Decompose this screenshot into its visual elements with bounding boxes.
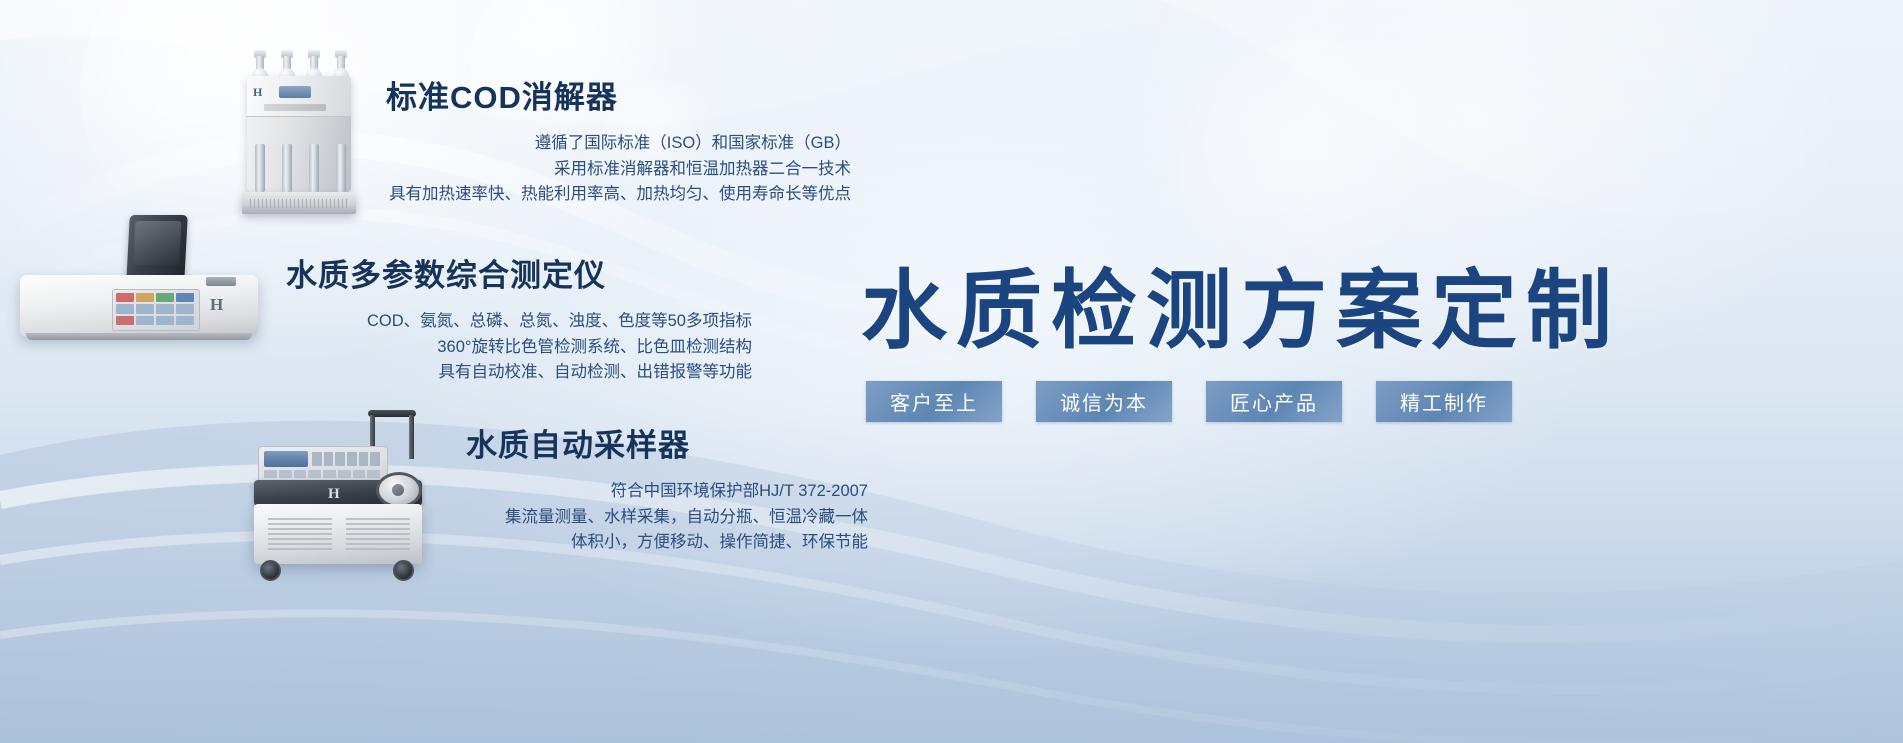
slogan-badge-craftsmanship[interactable]: 匠心产品 <box>1206 381 1342 422</box>
product-description-line: 采用标准消解器和恒温加热器二合一技术 <box>386 157 851 183</box>
page-title: 水质检测方案定制 <box>861 240 1871 365</box>
product-description-line: 集流量测量、水样采集，自动分瓶、恒温冷藏一体 <box>466 505 868 531</box>
lower-tube-4 <box>336 144 346 192</box>
product-title-water-auto-sampler: 水质自动采样器 <box>466 420 868 465</box>
brand-logo-icon: H <box>210 295 223 315</box>
digester-display <box>279 86 311 98</box>
product-description-line: 具有自动校准、自动检测、出错报警等功能 <box>286 360 752 386</box>
slogan-badge-customer-first[interactable]: 客户至上 <box>866 381 1002 422</box>
product-description-line: 符合中国环境保护部HJ/T 372-2007 <box>466 479 868 505</box>
product-description-line: COD、氨氮、总磷、总氮、浊度、色度等50多项指标 <box>286 309 752 335</box>
sampler-handle-post-right <box>409 415 414 459</box>
slogan-badge-row: 客户至上 诚信为本 匠心产品 精工制作 <box>866 381 1512 422</box>
product-description-line: 遵循了国际标准（ISO）和国家标准（GB） <box>386 131 851 157</box>
product-block-multiparameter-analyzer: 水质多参数综合测定仪 COD、氨氮、总磷、总氮、浊度、色度等50多项指标 360… <box>286 250 752 386</box>
product-block-water-auto-sampler: 水质自动采样器 符合中国环境保护部HJ/T 372-2007 集流量测量、水样采… <box>466 420 868 556</box>
multiparameter-analyzer-photo: H <box>20 215 265 350</box>
slogan-badge-fine-manufacturing[interactable]: 精工制作 <box>1376 381 1512 422</box>
slogan-badge-integrity[interactable]: 诚信为本 <box>1036 381 1172 422</box>
lower-tube-1 <box>255 144 265 192</box>
lower-tube-3 <box>309 144 319 192</box>
product-title-multiparameter-analyzer: 水质多参数综合测定仪 <box>286 250 752 295</box>
product-description-water-auto-sampler: 符合中国环境保护部HJ/T 372-2007 集流量测量、水样采集，自动分瓶、恒… <box>466 479 868 556</box>
analyzer-keypad <box>116 293 194 325</box>
sampler-vent-right <box>346 518 410 552</box>
digester-vent <box>250 199 348 208</box>
sampler-wheel-right <box>393 560 414 581</box>
sampler-peristaltic-pump <box>376 472 422 508</box>
brand-logo-icon: H <box>328 486 340 503</box>
product-description-line: 360°旋转比色管检测系统、比色皿检测结构 <box>286 335 752 361</box>
sampler-wheel-left <box>260 560 281 581</box>
water-auto-sampler-photo: H <box>250 410 435 585</box>
product-description-line: 具有加热速率快、热能利用率高、加热均匀、使用寿命长等优点 <box>386 182 851 208</box>
water-quality-banner: H H H <box>0 0 1903 743</box>
sampler-vent-left <box>268 518 332 552</box>
product-description-line: 体积小，方便移动、操作简捷、环保节能 <box>466 530 868 556</box>
lower-tube-2 <box>282 144 292 192</box>
product-description-cod-digester: 遵循了国际标准（ISO）和国家标准（GB） 采用标准消解器和恒温加热器二合一技术… <box>386 131 851 208</box>
product-block-cod-digester: 标准COD消解器 遵循了国际标准（ISO）和国家标准（GB） 采用标准消解器和恒… <box>386 72 851 208</box>
analyzer-cuvette-well <box>206 277 236 286</box>
analyzer-base <box>26 333 252 340</box>
digester-keypad-strip <box>264 104 326 111</box>
analyzer-lid <box>126 215 188 283</box>
sampler-button-row-bottom <box>264 470 380 478</box>
brand-logo-icon: H <box>253 85 267 99</box>
sampler-display <box>264 451 308 467</box>
cod-digester-photo: H <box>236 48 366 216</box>
sampler-button-row-top <box>312 452 380 466</box>
product-title-cod-digester: 标准COD消解器 <box>386 72 851 117</box>
product-description-multiparameter-analyzer: COD、氨氮、总磷、总氮、浊度、色度等50多项指标 360°旋转比色管检测系统、… <box>286 309 752 386</box>
